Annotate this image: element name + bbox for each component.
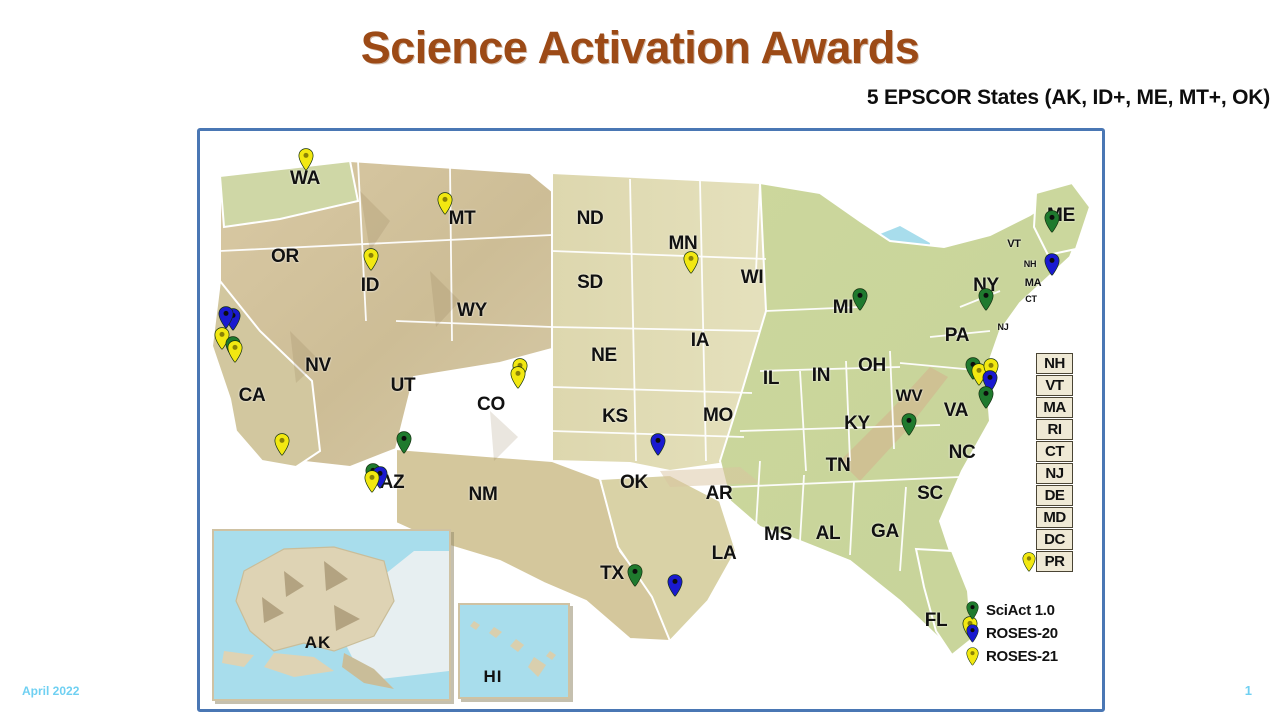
state-label-ne: NE [591,345,617,367]
slide-root: Science Activation Awards 5 EPSCOR State… [0,0,1280,720]
state-label-in: IN [812,365,830,387]
legend-row-1: ROSES-20 [966,624,1058,643]
state-label-nv: NV [305,355,331,377]
map-pin-mi-4[interactable] [852,288,868,311]
state-label-ar: AR [706,483,733,505]
footer-date: April 2022 [22,684,79,698]
state-label-sd: SD [577,272,603,294]
state-label-nh: NH [1024,259,1036,269]
map-pin-ny-7[interactable] [978,288,994,311]
abbr-box-dc[interactable]: DC [1036,529,1073,550]
state-label-fl: FL [925,610,948,632]
abbr-box-ri[interactable]: RI [1036,419,1073,440]
state-label-mi: MI [833,297,854,319]
map-pin-md-28[interactable] [978,386,994,409]
state-label-tx: TX [600,563,624,585]
map-pin-ok-20[interactable] [650,433,666,456]
state-label-ga: GA [871,521,899,543]
map-pin-mn-3[interactable] [683,251,699,274]
map-pin-co-15[interactable] [510,366,526,389]
state-label-id: ID [361,275,379,297]
legend-row-0: SciAct 1.0 [966,601,1058,620]
state-label-mo: MO [703,405,733,427]
state-label-vt: VT [1007,238,1020,250]
inset-alaska[interactable] [212,529,451,701]
state-label-il: IL [763,368,779,390]
state-label-pa: PA [945,325,969,347]
state-label-ct: CT [1025,294,1036,304]
state-label-or: OR [271,246,299,268]
state-label-wi: WI [741,267,764,289]
map-pin-tx-21[interactable] [627,564,643,587]
legend-label-0: SciAct 1.0 [986,602,1055,619]
map-pin-az-16[interactable] [396,431,412,454]
map-pin-icon [966,624,979,643]
state-label-ia: IA [691,330,709,352]
map-pin-mt-1[interactable] [437,192,453,215]
state-label-wv: WV [896,386,923,406]
inset-label-hi: HI [484,667,503,687]
state-label-ok: OK [620,472,648,494]
abbr-box-ma[interactable]: MA [1036,397,1073,418]
state-label-ma: MA [1025,277,1042,289]
abbr-box-nj[interactable]: NJ [1036,463,1073,484]
abbr-box-md[interactable]: MD [1036,507,1073,528]
state-label-wy: WY [457,300,487,322]
abbr-box-vt[interactable]: VT [1036,375,1073,396]
abbr-pin-pr[interactable] [1022,552,1036,577]
abbr-box-de[interactable]: DE [1036,485,1073,506]
subtitle-epscor-states: 5 EPSCOR States (AK, ID+, ME, MT+, OK) [867,86,1270,110]
map-pin-id-2[interactable] [363,248,379,271]
state-label-al: AL [816,523,841,545]
abbr-box-nh[interactable]: NH [1036,353,1073,374]
state-label-wa: WA [290,168,320,190]
legend-row-2: ROSES-21 [966,647,1058,666]
state-label-ky: KY [844,413,870,435]
map-legend: SciAct 1.0ROSES-20ROSES-21 [966,601,1058,666]
state-label-oh: OH [858,355,886,377]
state-label-nd: ND [577,208,604,230]
map-pin-ma-6[interactable] [1044,253,1060,276]
legend-label-2: ROSES-21 [986,648,1058,665]
state-label-ks: KS [602,406,628,428]
map-pin-icon [966,601,979,620]
map-canvas: WA OR MT ID WY ND SD NE MN WI IA IL IN M… [200,131,1102,709]
state-label-nc: NC [949,442,976,464]
legend-label-1: ROSES-20 [986,625,1058,642]
state-abbreviation-column: NHVTMARICTNJDEMDDCPR [1036,353,1073,572]
state-label-ca: CA [239,385,266,407]
state-label-la: LA [712,543,737,565]
hawaii-graphic [460,605,568,697]
state-label-co: CO [477,394,505,416]
map-frame[interactable]: WA OR MT ID WY ND SD NE MN WI IA IL IN M… [197,128,1105,712]
footer-page-number: 1 [1245,683,1252,698]
page-title: Science Activation Awards [0,22,1280,74]
map-pin-me-5[interactable] [1044,210,1060,233]
map-pin-wa-0[interactable] [298,148,314,171]
map-pin-tx-22[interactable] [667,574,683,597]
state-label-nj: NJ [998,322,1009,332]
state-label-tn: TN [826,455,851,477]
map-pin-ca-9[interactable] [218,306,234,329]
map-pin-ca-12[interactable] [227,340,243,363]
inset-hawaii[interactable] [458,603,570,699]
state-label-ut: UT [391,375,416,397]
map-pin-az-19[interactable] [364,470,380,493]
abbr-box-ct[interactable]: CT [1036,441,1073,462]
map-pin-ca-13[interactable] [274,433,290,456]
abbr-box-pr[interactable]: PR [1036,551,1073,572]
state-label-nm: NM [469,484,498,506]
state-label-sc: SC [917,483,943,505]
state-label-va: VA [944,400,968,422]
inset-label-ak: AK [305,633,332,653]
map-pin-icon [966,647,979,666]
state-label-ms: MS [764,524,792,546]
map-pin-wv-23[interactable] [901,413,917,436]
alaska-graphic [214,531,449,699]
